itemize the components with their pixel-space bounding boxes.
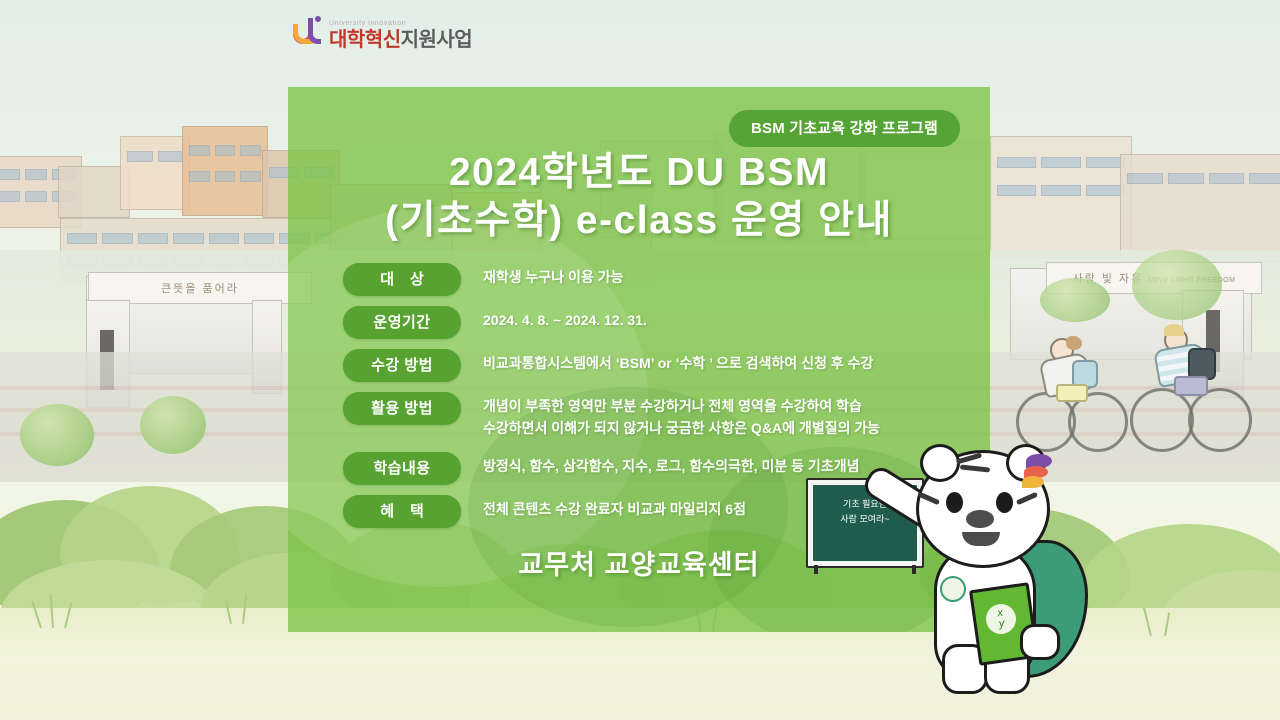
logo-mark-icon xyxy=(293,18,323,50)
info-label-period: 운영기간 xyxy=(343,306,461,339)
tree xyxy=(1040,278,1110,322)
info-row-enroll-method: 수강 방법 비교과통합시스템에서 ‘BSM’ or ‘수학 ’ 으로 검색하여 … xyxy=(343,349,968,382)
logo-subtitle: University innovation xyxy=(329,20,472,27)
mascot-nose xyxy=(966,510,994,528)
mascot-eye-right xyxy=(996,492,1013,513)
info-label-enroll-method: 수강 방법 xyxy=(343,349,461,382)
info-label-benefit: 혜택 xyxy=(343,495,461,528)
title-line-2: (기초수학) e-class 운영 안내 xyxy=(288,197,990,245)
poster-canvas: 큰뜻을 품어라 사랑 빛 자유 LOVE LIGHT FREEDOM xyxy=(0,0,1280,720)
tiger-mascot: xy xyxy=(900,448,1130,713)
cyclist-front xyxy=(1016,330,1146,450)
building xyxy=(182,126,268,216)
mascot-medal xyxy=(940,576,966,602)
info-row-usage-method: 활용 방법 개념이 부족한 영역만 부분 수강하거나 전체 영역을 수강하여 학… xyxy=(343,392,968,439)
usage-line-1: 개념이 부족한 영역만 부분 수강하거나 전체 영역을 수강하여 학습 xyxy=(483,396,968,418)
logo-title: 대학혁신지원사업 xyxy=(329,30,472,50)
info-value-period: 2024. 4. 8. ~ 2024. 12. 31. xyxy=(461,306,968,332)
mascot-topknot xyxy=(1022,476,1044,488)
program-badge: BSM 기초교육 강화 프로그램 xyxy=(729,110,960,147)
logo-text: University innovation 대학혁신지원사업 xyxy=(329,20,472,50)
info-row-period: 운영기간 2024. 4. 8. ~ 2024. 12. 31. xyxy=(343,306,968,339)
usage-line-2: 수강하면서 이해가 되지 않거나 궁금한 사항은 Q&A에 개별질의 가능 xyxy=(483,418,968,440)
poster-title: 2024학년도 DU BSM (기초수학) e-class 운영 안내 xyxy=(288,149,990,244)
building xyxy=(120,136,190,210)
title-line-1: 2024학년도 DU BSM xyxy=(288,149,990,197)
mascot-eye-left xyxy=(946,492,963,513)
gate-left-text: 큰뜻을 품어라 xyxy=(161,280,239,296)
logo-title-red: 대학혁신 xyxy=(329,29,401,51)
university-innovation-logo: University innovation 대학혁신지원사업 xyxy=(293,18,472,50)
tree xyxy=(140,396,206,454)
mascot-ear-left xyxy=(920,444,960,482)
building xyxy=(990,136,1132,258)
blackboard-leg xyxy=(814,565,818,574)
logo-title-gray: 지원사업 xyxy=(401,29,473,51)
info-label-target: 대상 xyxy=(343,263,461,296)
info-label-curriculum: 학습내용 xyxy=(343,452,461,485)
mascot-hand xyxy=(1020,624,1060,660)
info-row-target: 대상 재학생 누구나 이용 가능 xyxy=(343,263,968,296)
tree xyxy=(1132,250,1222,320)
info-value-target: 재학생 누구나 이용 가능 xyxy=(461,263,968,289)
info-label-usage-method: 활용 방법 xyxy=(343,392,461,425)
cyclist-back xyxy=(1130,322,1270,450)
info-value-usage-method: 개념이 부족한 영역만 부분 수강하거나 전체 영역을 수강하여 학습 수강하면… xyxy=(461,392,968,439)
info-value-enroll-method: 비교과통합시스템에서 ‘BSM’ or ‘수학 ’ 으로 검색하여 신청 후 수… xyxy=(461,349,968,375)
tree xyxy=(20,404,94,466)
building xyxy=(1120,154,1280,262)
